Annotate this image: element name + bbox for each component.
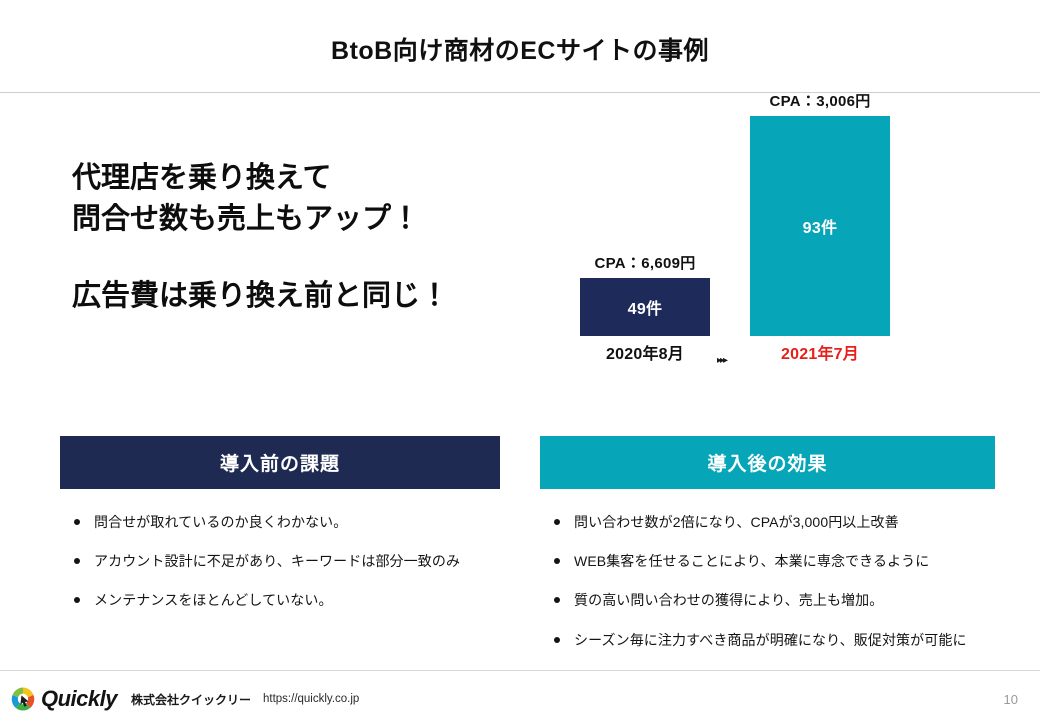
headline-block: 代理店を乗り換えて 問合せ数も売上もアップ！ 広告費は乗り換え前と同じ！ xyxy=(72,158,532,318)
footer-company-name: 株式会社クイックリー xyxy=(131,691,251,708)
headline-line-3: 広告費は乗り換え前と同じ！ xyxy=(72,276,532,317)
list-item: 問い合わせ数が2倍になり、CPAが3,000円以上改善 xyxy=(546,513,995,531)
bullet-list-before: 問合せが取れているのか良くわかない。アカウント設計に不足があり、キーワードは部分… xyxy=(60,489,500,610)
bar-group-before: CPA：6,609円 49件 2020年8月 xyxy=(580,252,710,364)
quickly-logo-icon xyxy=(10,686,36,712)
bar-after: 93件 xyxy=(750,116,890,336)
footer-bar: Quickly 株式会社クイックリー https://quickly.co.jp xyxy=(10,682,359,716)
transition-arrow-icon: ▸▸▸ xyxy=(717,356,726,366)
axis-label-after: 2021年7月 xyxy=(750,340,890,364)
quickly-wordmark: Quickly xyxy=(41,688,117,710)
list-item: 質の高い問い合わせの獲得により、売上も増加。 xyxy=(546,591,995,609)
list-item: シーズン毎に注力すべき商品が明確になり、販促対策が可能に xyxy=(546,631,995,649)
slide-root: BtoB向け商材のECサイトの事例 代理店を乗り換えて 問合せ数も売上もアップ！… xyxy=(0,0,1040,720)
list-item: アカウント設計に不足があり、キーワードは部分一致のみ xyxy=(66,552,500,570)
page-title: BtoB向け商材のECサイトの事例 xyxy=(0,36,1040,66)
headline-line-1: 代理店を乗り換えて xyxy=(72,158,532,199)
panel-header-before: 導入前の課題 xyxy=(60,436,500,489)
bar-value-after: 93件 xyxy=(803,214,838,238)
panel-before-issues: 導入前の課題 問合せが取れているのか良くわかない。アカウント設計に不足があり、キ… xyxy=(60,436,500,631)
cpa-label-after: CPA：3,006円 xyxy=(750,90,890,111)
footer-divider xyxy=(0,670,1040,671)
comparison-bar-chart: CPA：6,609円 49件 2020年8月 ▸▸▸ CPA：3,006円 93… xyxy=(560,110,960,410)
headline-line-2: 問合せ数も売上もアップ！ xyxy=(72,199,532,240)
panel-after-effects: 導入後の効果 問い合わせ数が2倍になり、CPAが3,000円以上改善WEB集客を… xyxy=(540,436,995,670)
list-item: 問合せが取れているのか良くわかない。 xyxy=(66,513,500,531)
page-number: 10 xyxy=(1004,692,1018,707)
cpa-label-before: CPA：6,609円 xyxy=(580,252,710,273)
list-item: メンテナンスをほとんどしていない。 xyxy=(66,591,500,609)
list-item: WEB集客を任せることにより、本業に専念できるように xyxy=(546,552,995,570)
axis-label-before: 2020年8月 xyxy=(580,340,710,364)
footer-url: https://quickly.co.jp xyxy=(263,693,359,705)
panel-header-after: 導入後の効果 xyxy=(540,436,995,489)
bullet-list-after: 問い合わせ数が2倍になり、CPAが3,000円以上改善WEB集客を任せることによ… xyxy=(540,489,995,649)
bar-group-after: CPA：3,006円 93件 2021年7月 xyxy=(750,90,890,364)
bar-before: 49件 xyxy=(580,278,710,336)
bar-value-before: 49件 xyxy=(628,295,663,319)
